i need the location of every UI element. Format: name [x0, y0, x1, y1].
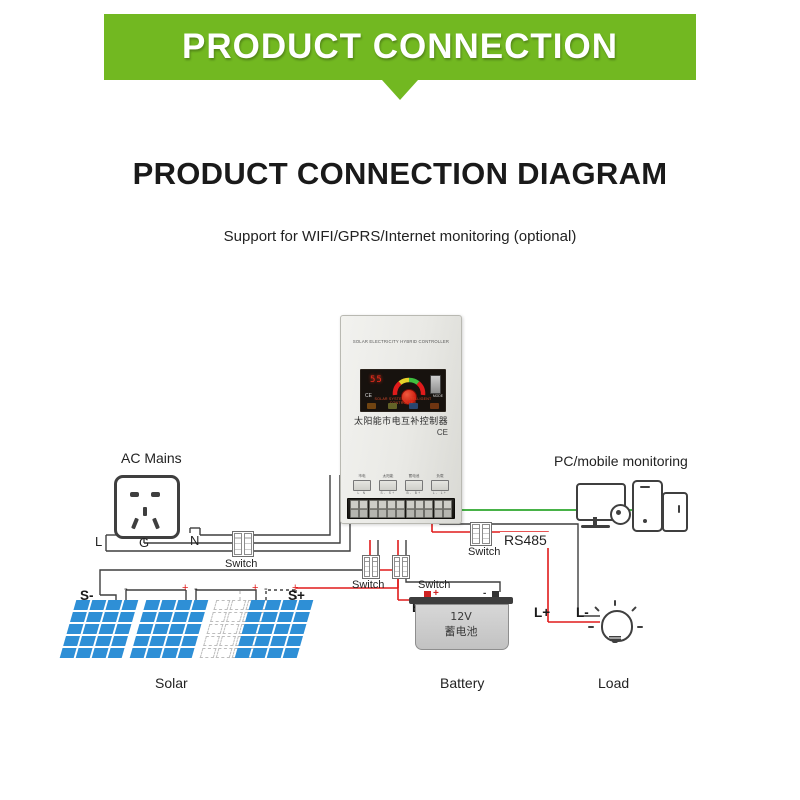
load-status-icon — [430, 403, 439, 409]
ce-mark-icon: CE — [437, 428, 448, 437]
terminal-screw — [424, 500, 433, 518]
tablet-icon — [662, 492, 688, 532]
bulb-ray — [614, 600, 616, 606]
terminal-group-battery-label: 蓄电池 — [403, 474, 425, 479]
battery-pin-labels: B- B+ — [403, 491, 425, 495]
bulb-ray — [637, 626, 643, 628]
mains-status-icon — [367, 403, 376, 409]
label-solar-positive: S+ — [288, 588, 305, 603]
battery-terminal-icon — [405, 480, 423, 491]
terminal-group-solar: 太阳能 S- S+ — [377, 474, 399, 495]
socket-slot-angled-left — [131, 518, 139, 530]
label-ac-live: L — [95, 534, 102, 549]
terminal-block — [347, 498, 455, 519]
page-title: PRODUCT CONNECTION DIAGRAM — [0, 156, 800, 192]
label-load-positive: L+ — [534, 605, 550, 620]
terminal-screw — [406, 500, 415, 518]
phone-home-button-icon — [643, 519, 647, 523]
solar-polarity-neg-2: - — [194, 583, 198, 595]
terminal-screw — [443, 500, 452, 518]
battery-status-icon — [409, 403, 418, 409]
mode-button[interactable] — [430, 375, 441, 394]
solar-hybrid-controller: SOLAR ELECTRICITY HYBRID CONTROLLER 55 C… — [340, 315, 462, 524]
breaker-pole — [364, 557, 370, 577]
bulb-ray — [588, 626, 594, 628]
mains-pin-labels: L N — [351, 491, 373, 495]
terminal-screw — [350, 500, 359, 518]
terminal-group-solar-label: 太阳能 — [377, 474, 399, 479]
battery-voltage: 12V — [415, 610, 507, 625]
breaker-pole — [472, 524, 480, 544]
controller-display-panel: 55 CE MODE SOLAR SYSTEM INTELLIGENT CONT… — [360, 369, 446, 412]
panel-status-icons — [367, 403, 439, 409]
controller-model-chinese: 太阳能市电互补控制器 — [341, 414, 461, 427]
ac-mains-socket — [114, 475, 180, 539]
battery-spec-text: 12V 蓄电池 — [415, 610, 507, 640]
terminal-group-battery: 蓄电池 B- B+ — [403, 474, 425, 495]
terminal-screw — [396, 500, 405, 518]
label-ac-neutral: N — [190, 533, 199, 548]
breaker-pole — [244, 533, 252, 555]
breaker-pole — [372, 557, 378, 577]
camera-lens-icon — [616, 510, 621, 515]
solar-status-icon — [388, 403, 397, 409]
terminal-screw — [387, 500, 396, 518]
ac-mains-label: AC Mains — [121, 450, 182, 466]
terminal-group-load: 负载 L- L+ — [429, 474, 451, 495]
switch-label-solar: Switch — [352, 579, 384, 591]
terminal-screw — [415, 500, 424, 518]
breaker-pole — [394, 557, 400, 577]
load-label: Load — [598, 675, 629, 691]
terminal-screw — [434, 500, 443, 518]
mains-terminal-icon — [353, 480, 371, 491]
label-solar-negative: S- — [80, 588, 94, 603]
bulb-tip-icon — [612, 640, 618, 643]
socket-slot-live — [130, 492, 139, 497]
socket-slot-earth — [143, 507, 147, 516]
socket-slot-angled-right — [152, 518, 160, 530]
terminal-group-mains-label: 市电 — [351, 474, 373, 479]
solar-polarity-neg-3: - — [264, 583, 268, 595]
switch-ac-mains[interactable] — [232, 531, 254, 557]
rs485-label: RS485 — [500, 532, 551, 548]
solar-label: Solar — [155, 675, 188, 691]
terminal-group-load-label: 负载 — [429, 474, 451, 479]
battery-type-chinese: 蓄电池 — [415, 625, 507, 640]
battery-label: Battery — [440, 675, 484, 691]
switch-label-ac: Switch — [225, 558, 257, 570]
page-subtitle: Support for WIFI/GPRS/Internet monitorin… — [0, 228, 800, 245]
battery-top-cover — [409, 597, 513, 604]
switch-load[interactable] — [470, 522, 492, 546]
solar-terminal-icon — [379, 480, 397, 491]
monitor-base-icon — [581, 525, 610, 528]
terminal-screw — [378, 500, 387, 518]
switch-battery[interactable] — [392, 555, 410, 579]
solar-polarity-pos-1: + — [182, 582, 188, 594]
monitoring-label: PC/mobile monitoring — [554, 453, 688, 469]
solar-pin-labels: S- S+ — [377, 491, 399, 495]
connection-diagram: SOLAR ELECTRICITY HYBRID CONTROLLER 55 C… — [0, 270, 800, 740]
load-terminal-icon — [431, 480, 449, 491]
terminal-group-mains: 市电 L N — [351, 474, 373, 495]
switch-solar[interactable] — [362, 555, 380, 579]
breaker-pole — [402, 557, 408, 577]
terminal-screw — [369, 500, 378, 518]
header-notch-arrow — [382, 80, 418, 100]
seven-segment-digits: 55 — [370, 375, 383, 385]
tablet-button-icon — [678, 505, 680, 513]
label-ac-ground: G — [139, 535, 149, 550]
phone-speaker-icon — [640, 486, 650, 488]
header-title: PRODUCT CONNECTION — [182, 27, 618, 67]
load-pin-labels: L- L+ — [429, 491, 451, 495]
socket-slot-neutral — [151, 492, 160, 497]
breaker-pole — [234, 533, 242, 555]
controller-brand-text: SOLAR ELECTRICITY HYBRID CONTROLLER — [341, 339, 461, 345]
label-load-negative: L- — [576, 605, 589, 620]
camera-icon — [610, 504, 631, 525]
switch-label-load: Switch — [468, 546, 500, 558]
terminal-group-labels: 市电 L N 太阳能 S- S+ 蓄电池 B- B+ 负载 L- L+ — [351, 474, 451, 495]
breaker-pole — [482, 524, 490, 544]
header-banner: PRODUCT CONNECTION — [104, 14, 696, 80]
solar-polarity-neg-1: - — [124, 583, 128, 595]
terminal-screw — [359, 500, 368, 518]
solar-polarity-pos-2: + — [252, 582, 258, 594]
